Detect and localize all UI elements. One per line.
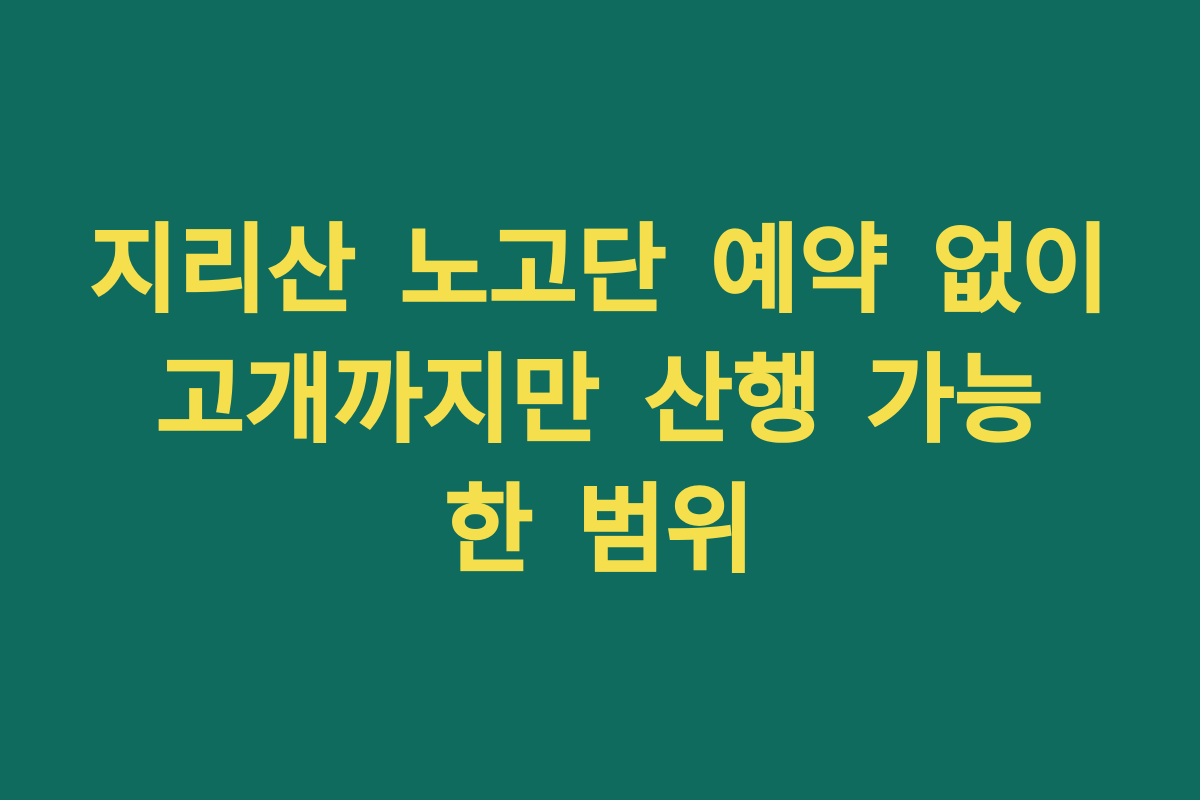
banner-canvas: 지리산 노고단 예약 없이 고개까지만 산행 가능 한 범위 (0, 0, 1200, 800)
headline-text: 지리산 노고단 예약 없이 고개까지만 산행 가능 한 범위 (70, 205, 1130, 595)
